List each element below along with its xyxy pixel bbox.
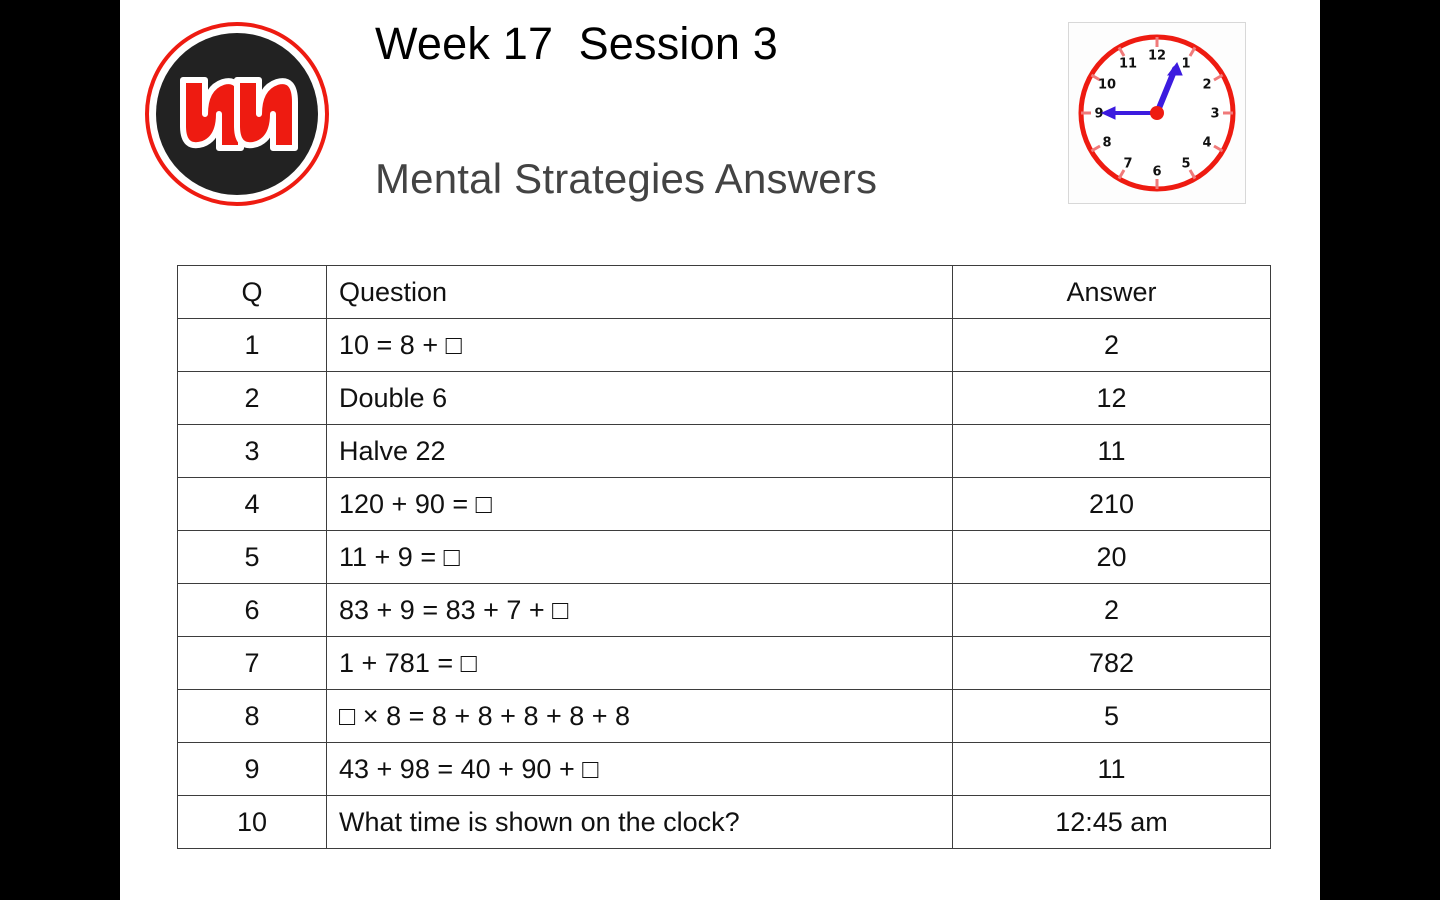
cell-q-6: 6 <box>178 584 327 637</box>
cell-q-9: 9 <box>178 743 327 796</box>
cell-answer-2: 12 <box>953 372 1271 425</box>
svg-text:1: 1 <box>1181 57 1190 72</box>
table-row: 10 What time is shown on the clock? 12:4… <box>178 796 1271 849</box>
svg-text:2: 2 <box>1202 78 1211 93</box>
table-row: 5 11 + 9 = □ 20 <box>178 531 1271 584</box>
table-row: 2 Double 6 12 <box>178 372 1271 425</box>
table-row: 9 43 + 98 = 40 + 90 + □ 11 <box>178 743 1271 796</box>
cell-answer-5: 20 <box>953 531 1271 584</box>
column-header-question: Question <box>327 266 953 319</box>
column-header-q: Q <box>178 266 327 319</box>
cell-answer-8: 5 <box>953 690 1271 743</box>
cell-q-4: 4 <box>178 478 327 531</box>
cell-q-7: 7 <box>178 637 327 690</box>
cell-question-7: 1 + 781 = □ <box>327 637 953 690</box>
svg-text:11: 11 <box>1119 57 1137 72</box>
logo-nn-letters-icon <box>145 22 329 206</box>
table-row: 8 □ × 8 = 8 + 8 + 8 + 8 + 8 5 <box>178 690 1271 743</box>
cell-question-3: Halve 22 <box>327 425 953 478</box>
table-body: 1 10 = 8 + □ 2 2 Double 6 12 3 Halve 22 … <box>178 319 1271 849</box>
svg-text:5: 5 <box>1181 157 1190 172</box>
clock-icon: 12 1 2 3 4 5 6 7 8 9 10 11 <box>1069 23 1245 203</box>
nn-logo <box>145 22 329 206</box>
svg-text:8: 8 <box>1102 136 1111 151</box>
table-header: Q Question Answer <box>178 266 1271 319</box>
column-header-answer: Answer <box>953 266 1271 319</box>
cell-answer-4: 210 <box>953 478 1271 531</box>
svg-text:7: 7 <box>1123 157 1132 172</box>
cell-q-5: 5 <box>178 531 327 584</box>
cell-q-8: 8 <box>178 690 327 743</box>
table-header-row: Q Question Answer <box>178 266 1271 319</box>
cell-answer-7: 782 <box>953 637 1271 690</box>
table-row: 6 83 + 9 = 83 + 7 + □ 2 <box>178 584 1271 637</box>
table-row: 7 1 + 781 = □ 782 <box>178 637 1271 690</box>
cell-q-1: 1 <box>178 319 327 372</box>
cell-answer-3: 11 <box>953 425 1271 478</box>
svg-text:12: 12 <box>1148 49 1166 64</box>
cell-question-8: □ × 8 = 8 + 8 + 8 + 8 + 8 <box>327 690 953 743</box>
mental-strategies-answers-table: Q Question Answer 1 10 = 8 + □ 2 2 Doubl… <box>177 265 1271 849</box>
table-row: 3 Halve 22 11 <box>178 425 1271 478</box>
analog-clock-image: 12 1 2 3 4 5 6 7 8 9 10 11 <box>1068 22 1246 204</box>
svg-text:10: 10 <box>1098 78 1116 93</box>
cell-question-9: 43 + 98 = 40 + 90 + □ <box>327 743 953 796</box>
svg-text:4: 4 <box>1202 136 1211 151</box>
cell-q-2: 2 <box>178 372 327 425</box>
cell-answer-1: 2 <box>953 319 1271 372</box>
svg-text:3: 3 <box>1210 107 1219 122</box>
cell-question-6: 83 + 9 = 83 + 7 + □ <box>327 584 953 637</box>
slide-canvas: Week 17 Session 3 Mental Strategies Answ… <box>120 0 1320 900</box>
cell-q-10: 10 <box>178 796 327 849</box>
cell-question-5: 11 + 9 = □ <box>327 531 953 584</box>
table-row: 4 120 + 90 = □ 210 <box>178 478 1271 531</box>
title-block: Week 17 Session 3 Mental Strategies Answ… <box>375 18 1065 203</box>
cell-q-3: 3 <box>178 425 327 478</box>
svg-text:9: 9 <box>1094 107 1103 122</box>
cell-question-4: 120 + 90 = □ <box>327 478 953 531</box>
page-title: Week 17 Session 3 <box>375 18 1065 70</box>
cell-answer-9: 11 <box>953 743 1271 796</box>
page-subtitle: Mental Strategies Answers <box>375 70 1065 203</box>
cell-answer-6: 2 <box>953 584 1271 637</box>
slide-header: Week 17 Session 3 Mental Strategies Answ… <box>120 0 1320 240</box>
cell-answer-10: 12:45 am <box>953 796 1271 849</box>
svg-text:6: 6 <box>1152 165 1161 180</box>
cell-question-2: Double 6 <box>327 372 953 425</box>
table-row: 1 10 = 8 + □ 2 <box>178 319 1271 372</box>
cell-question-1: 10 = 8 + □ <box>327 319 953 372</box>
cell-question-10: What time is shown on the clock? <box>327 796 953 849</box>
